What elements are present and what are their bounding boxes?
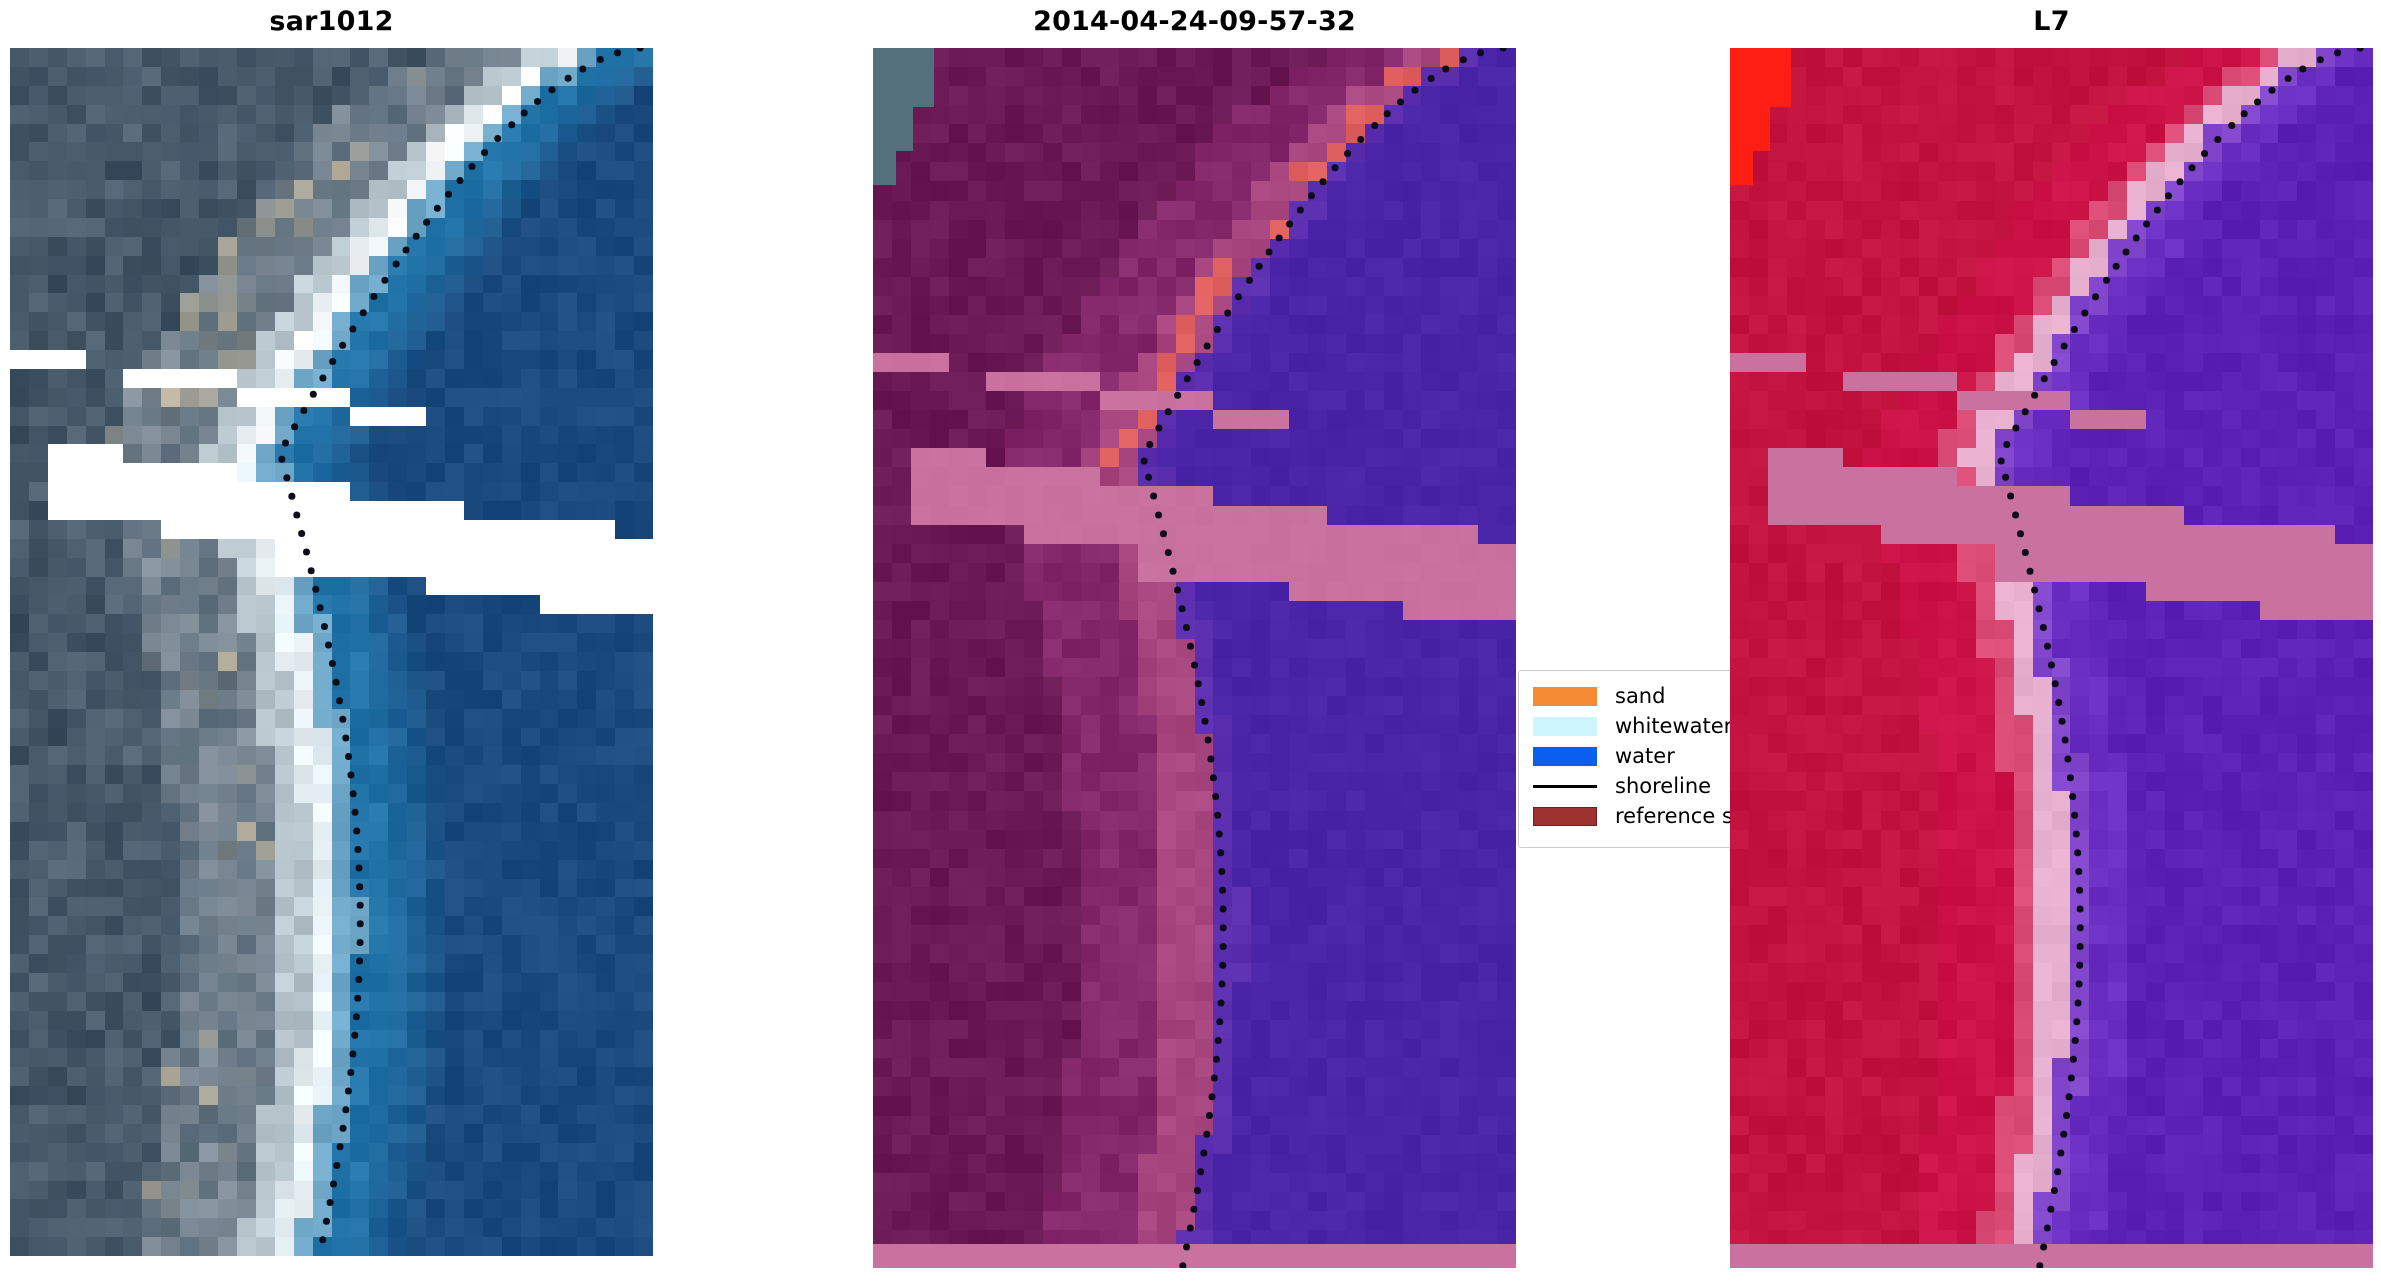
panel-title-l7: L7	[1730, 0, 2373, 44]
legend-label-whitewater: whitewater	[1615, 711, 1730, 741]
legend-label-shoreline: shoreline	[1615, 771, 1711, 801]
image-area-classification[interactable]	[873, 48, 1516, 1268]
reference-shoreline-swatch-icon	[1533, 807, 1597, 826]
panel-title-classification: 2014-04-24-09-57-32	[873, 0, 1516, 44]
water-swatch-icon	[1533, 747, 1597, 766]
classified-image[interactable]	[873, 48, 1516, 1268]
image-area-sar1012[interactable]	[10, 48, 653, 1256]
panel-title-sar1012: sar1012	[10, 0, 653, 44]
panel-l7: L7	[1730, 0, 2373, 1283]
l7-falsecolor-image[interactable]	[1730, 48, 2373, 1268]
legend-label-sand: sand	[1615, 681, 1665, 711]
legend-clip-region: sand whitewater water shoreline referenc…	[1518, 670, 1730, 854]
legend-item-whitewater[interactable]: whitewater	[1533, 711, 1730, 741]
shoreline-line-icon	[1533, 777, 1597, 796]
class-legend: sand whitewater water shoreline referenc…	[1518, 670, 1730, 848]
legend-item-water[interactable]: water	[1533, 741, 1730, 771]
legend-item-reference-shoreline[interactable]: reference shoreline	[1533, 801, 1730, 831]
satellite-rgb-image[interactable]	[10, 48, 653, 1256]
panel-classification: 2014-04-24-09-57-32	[873, 0, 1516, 1283]
legend-item-sand[interactable]: sand	[1533, 681, 1730, 711]
legend-item-shoreline[interactable]: shoreline	[1533, 771, 1730, 801]
sand-swatch-icon	[1533, 687, 1597, 706]
legend-label-water: water	[1615, 741, 1675, 771]
image-area-l7[interactable]	[1730, 48, 2373, 1268]
panel-sar1012: sar1012	[10, 0, 653, 1283]
legend-label-reference-shoreline: reference shoreline	[1615, 801, 1730, 831]
whitewater-swatch-icon	[1533, 717, 1597, 736]
